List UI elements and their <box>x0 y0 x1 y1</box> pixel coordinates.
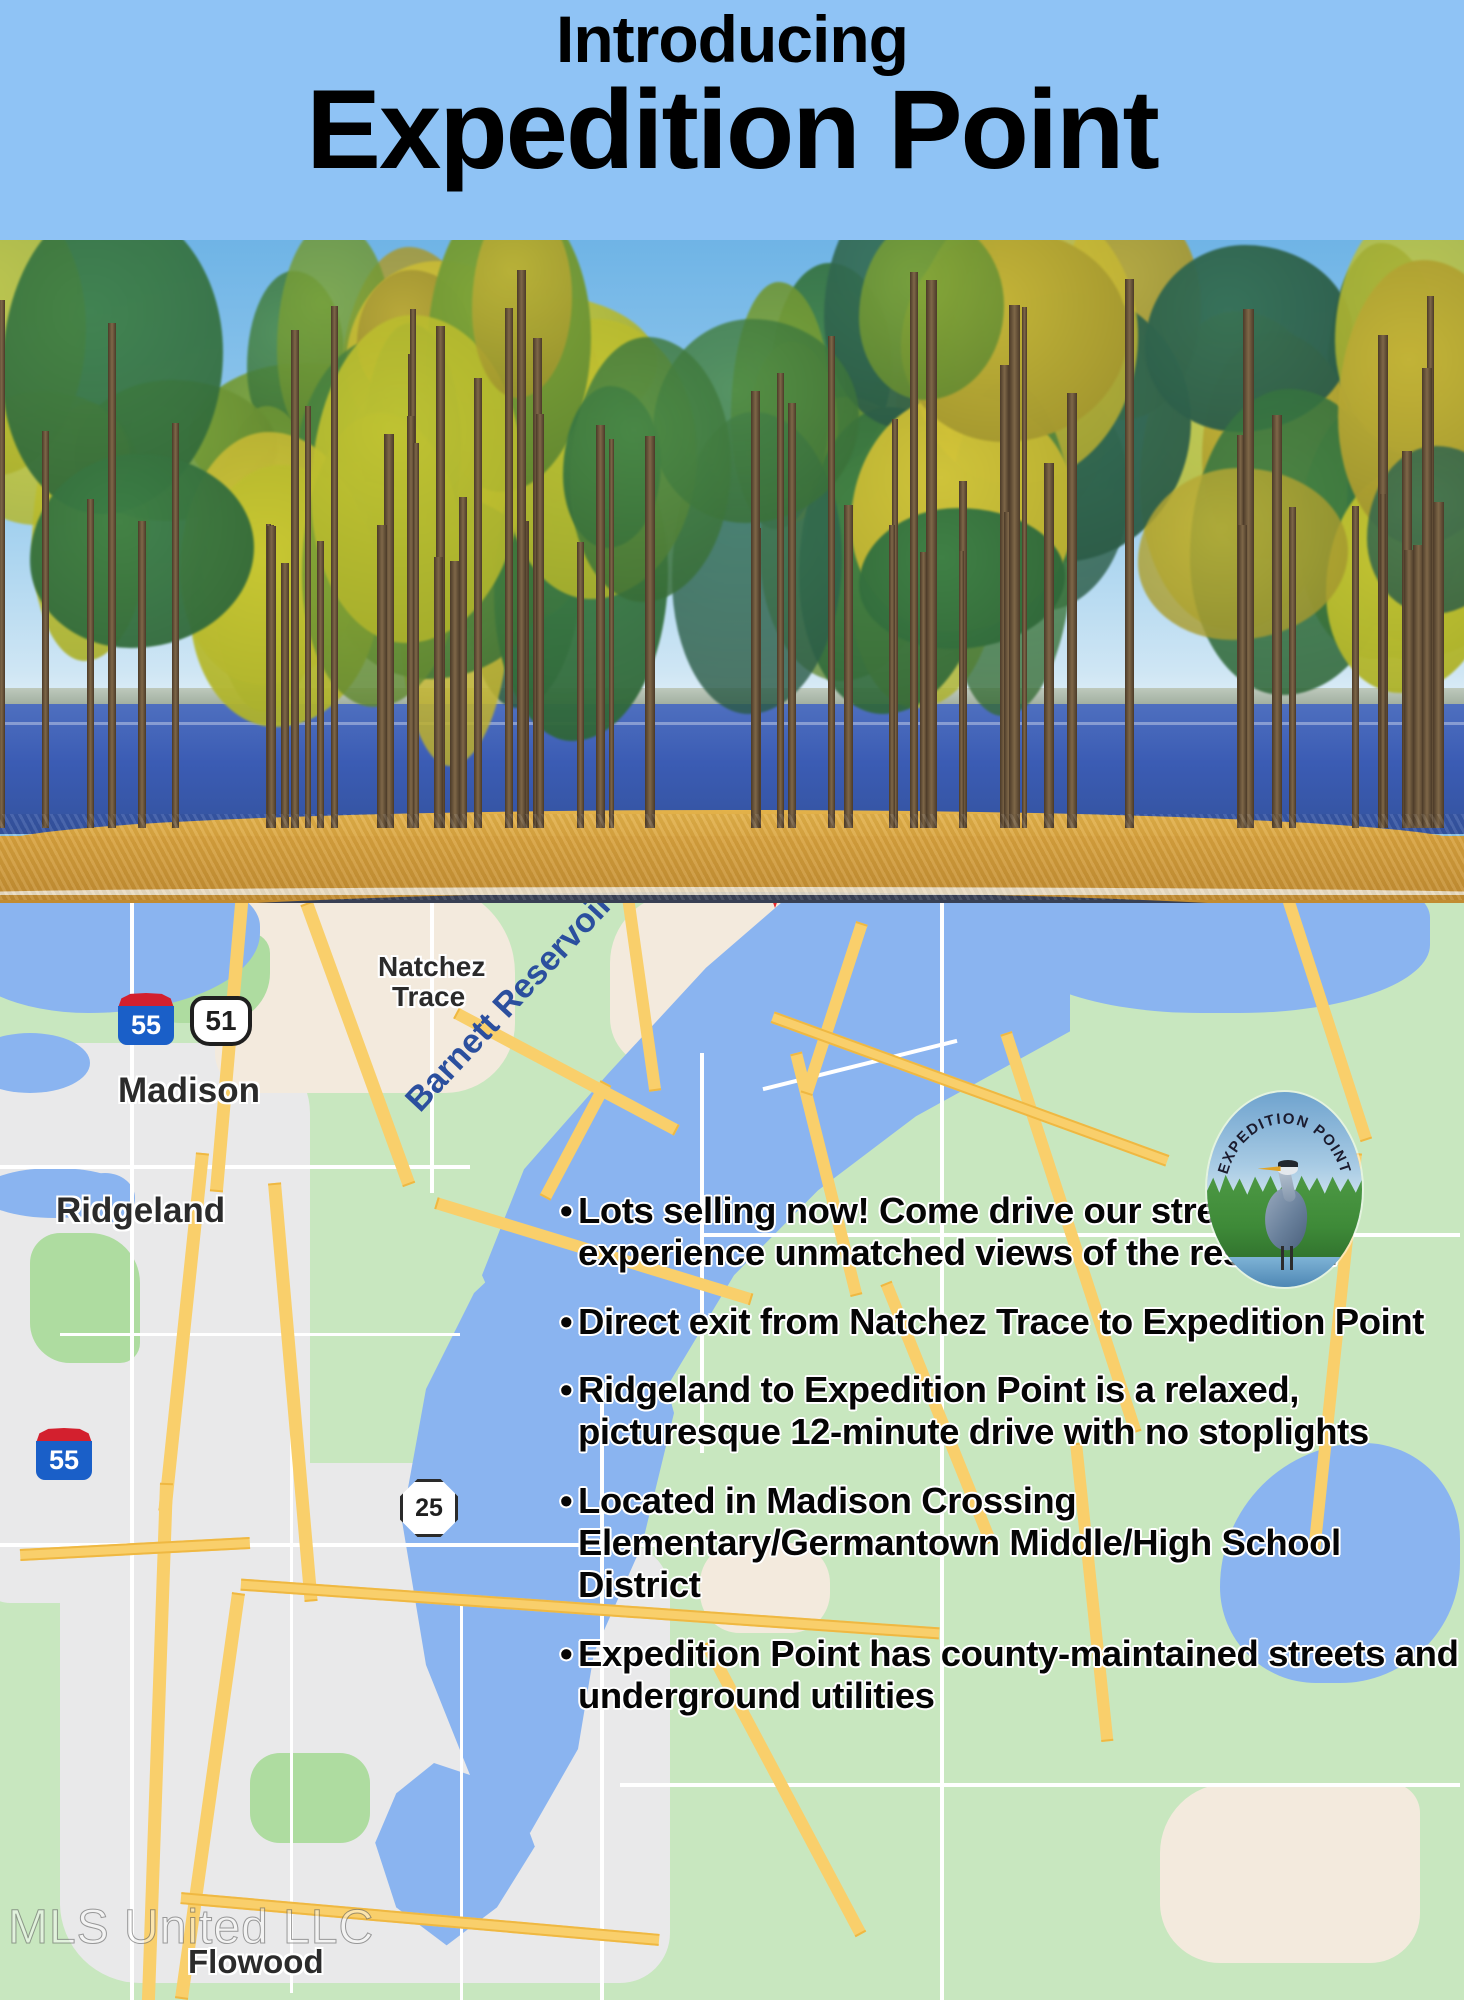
map-label-gluckstadt: Gluckstadt <box>148 903 319 906</box>
photo-tree-trunk <box>413 443 419 828</box>
photo-tree-trunk <box>172 423 179 828</box>
map-local-road <box>130 903 134 2000</box>
photo-tree-trunk <box>1404 550 1414 828</box>
photo-tree-trunk <box>1433 502 1444 828</box>
logo-arc-text: EXPEDITION POINT <box>1207 1092 1362 1287</box>
map-label-natchez-trace-line2: Trace <box>392 981 465 1013</box>
map-label-ridgeland: Ridgeland <box>56 1191 225 1231</box>
page-title: Expedition Point <box>0 74 1464 186</box>
photo-tree-trunk <box>788 403 796 828</box>
list-item: Ridgeland to Expedition Point is a relax… <box>560 1369 1464 1454</box>
map-label-natchez-trace-line1: Natchez <box>378 951 485 983</box>
photo-tree-trunk <box>331 306 338 828</box>
map-local-road <box>60 1333 460 1336</box>
photo-tree-trunk <box>1272 415 1282 828</box>
list-item: Direct exit from Natchez Trace to Expedi… <box>560 1301 1464 1343</box>
photo-tree-trunk <box>0 300 5 828</box>
photo-tree-trunk <box>910 272 918 828</box>
photo-tree-trunk <box>1422 368 1432 828</box>
photo-tree-trunk <box>1022 307 1027 828</box>
map-marker-expedition-point[interactable] <box>753 903 797 908</box>
photo-tree-trunk <box>1289 507 1296 828</box>
map-town-area <box>1160 1783 1420 1963</box>
photo-tree-trunk <box>1067 393 1077 828</box>
photo-tree-trunk <box>609 439 614 828</box>
map-shield-i55: 55 <box>36 1428 92 1480</box>
map-local-road <box>430 903 434 1193</box>
photo-tree-trunk <box>1009 305 1020 828</box>
photo-tree-trunk <box>536 414 544 828</box>
photo-tree-trunk <box>517 270 526 828</box>
photo-tree-trunk <box>434 557 443 828</box>
mls-watermark: MLS United LLC <box>8 1900 374 1955</box>
expedition-point-logo: EXPEDITION POINT <box>1207 1092 1362 1287</box>
photo-tree-trunk <box>1352 506 1359 828</box>
photo-tree-trunk <box>1238 525 1247 828</box>
map-shield-i55: 55 <box>118 993 174 1045</box>
photo-tree-trunk <box>777 373 784 828</box>
photo-tree-trunk <box>1380 494 1386 828</box>
photo-tree-trunk <box>87 499 94 828</box>
photo-tree-trunk <box>828 336 835 828</box>
header-banner: Introducing Expedition Point <box>0 0 1464 240</box>
map-shield-us51: 51 <box>190 996 252 1046</box>
map-local-road <box>460 1603 463 2000</box>
photo-tree-trunk <box>645 436 655 828</box>
photo-tree-trunk <box>505 308 513 828</box>
map-local-road <box>620 1783 1460 1787</box>
photo-tree-trunk <box>267 526 276 828</box>
photo-tree-trunk <box>959 551 964 828</box>
photo-tree-trunk <box>926 280 937 828</box>
photo-tree-trunk <box>459 497 467 828</box>
list-item: Expedition Point has county-maintained s… <box>560 1633 1464 1718</box>
photo-tree-trunk <box>42 431 49 828</box>
photo-tree-trunk <box>889 525 895 828</box>
header-intro-text: Introducing <box>0 6 1464 72</box>
photo-dirt-texture <box>0 814 1464 900</box>
photo-tree-trunk <box>305 406 311 828</box>
list-item: Located in Madison Crossing Elementary/G… <box>560 1480 1464 1607</box>
photo-tree-trunk <box>474 378 482 828</box>
photo-tree-trunk <box>138 521 146 828</box>
map-park-area <box>250 1753 370 1843</box>
photo-tree-trunk <box>1125 279 1134 828</box>
photo-tree-trunk <box>291 330 299 828</box>
photo-tree-trunk <box>108 323 116 828</box>
photo-tree-trunk <box>317 541 324 828</box>
svg-text:EXPEDITION POINT: EXPEDITION POINT <box>1215 1110 1354 1176</box>
photo-tree-trunk <box>596 425 605 828</box>
map-label-madison: Madison <box>118 1071 260 1111</box>
interstate-number: 55 <box>36 1441 92 1480</box>
map-park-area <box>30 1233 140 1363</box>
photo-tree-trunk <box>281 563 289 828</box>
photo-tree-trunk <box>377 525 387 828</box>
photo-tree-trunk <box>577 542 584 828</box>
hero-photo <box>0 240 1464 903</box>
logo-arc-label: EXPEDITION POINT <box>1215 1110 1354 1176</box>
photo-tree-trunk <box>751 391 760 828</box>
interstate-number: 55 <box>118 1006 174 1045</box>
photo-tree-trunk <box>844 505 853 828</box>
photo-tree-trunk <box>1044 463 1054 828</box>
listing-flyer: Introducing Expedition Point <box>0 0 1464 2000</box>
marker-tail-icon <box>764 903 786 908</box>
